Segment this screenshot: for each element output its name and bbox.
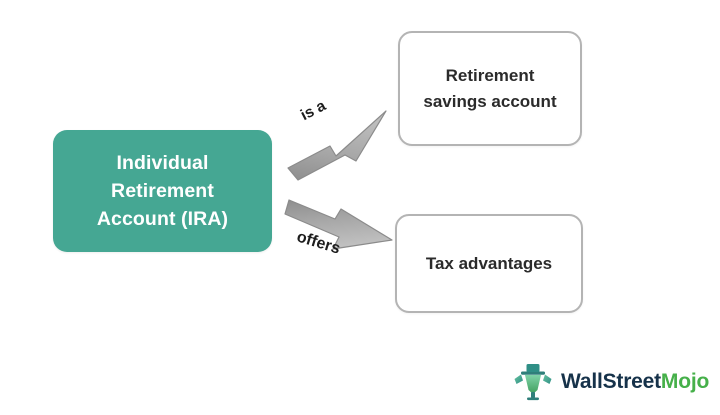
node-individual-retirement-account: Individual Retirement Account (IRA) xyxy=(53,130,272,252)
wallstreetmojo-mark-icon xyxy=(512,361,554,401)
wallstreetmojo-logo: WallStreetMojo xyxy=(512,361,709,401)
node-label-primary: Individual Retirement Account (IRA) xyxy=(97,149,228,234)
connector-is-a xyxy=(288,111,386,180)
logo-text-accent: Mojo xyxy=(661,370,709,393)
node-retirement-savings-account: Retirement savings account xyxy=(398,31,582,146)
node-label-retirement-savings-account: Retirement savings account xyxy=(423,63,556,114)
wallstreetmojo-wordmark: WallStreetMojo xyxy=(561,371,709,392)
node-tax-advantages: Tax advantages xyxy=(395,214,583,313)
connector-label-is-a: is a xyxy=(298,97,329,125)
diagram-canvas: Individual Retirement Account (IRA) is a xyxy=(0,0,720,415)
connector-label-offers: offers xyxy=(294,228,342,258)
node-label-tax-advantages: Tax advantages xyxy=(426,251,552,277)
logo-text-primary: WallStreet xyxy=(561,370,661,393)
